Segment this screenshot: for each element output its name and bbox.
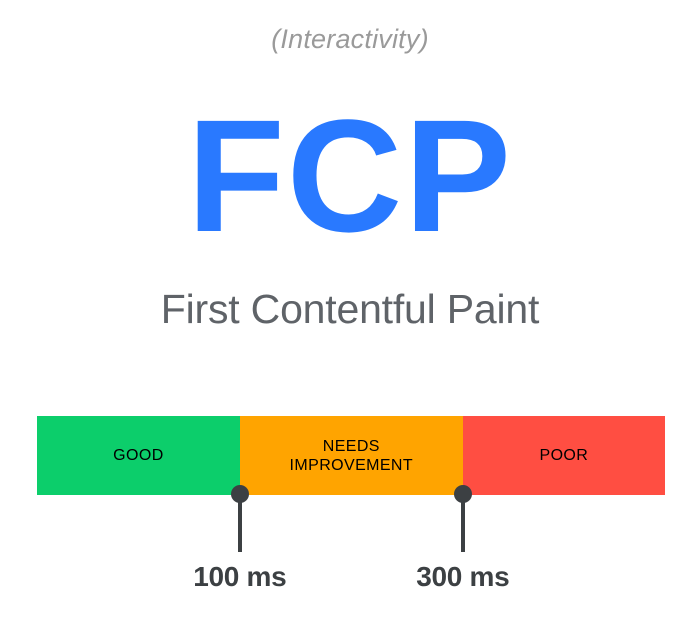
label-line-1: NEEDS: [323, 438, 380, 455]
threshold-stem: [461, 494, 465, 552]
threshold-label-300ms: 300 ms: [373, 561, 553, 593]
metric-full-name: First Contentful Paint: [0, 286, 700, 333]
threshold-stem: [238, 494, 242, 552]
rating-segment-poor: POOR: [463, 416, 665, 495]
rating-scale-bar: GOOD NEEDS IMPROVEMENT POOR: [37, 416, 665, 495]
rating-segment-poor-label: POOR: [540, 446, 589, 465]
metric-acronym: FCP: [0, 96, 700, 256]
metric-category-label: (Interactivity): [0, 24, 700, 55]
rating-segment-good: GOOD: [37, 416, 240, 495]
threshold-label-100ms: 100 ms: [150, 561, 330, 593]
label-line-2: IMPROVEMENT: [290, 457, 414, 474]
rating-segment-needs-improvement: NEEDS IMPROVEMENT: [240, 416, 463, 495]
metric-card: (Interactivity) FCP First Contentful Pai…: [0, 0, 700, 634]
rating-segment-good-label: GOOD: [113, 446, 164, 465]
rating-segment-needs-improvement-label: NEEDS IMPROVEMENT: [290, 437, 414, 475]
